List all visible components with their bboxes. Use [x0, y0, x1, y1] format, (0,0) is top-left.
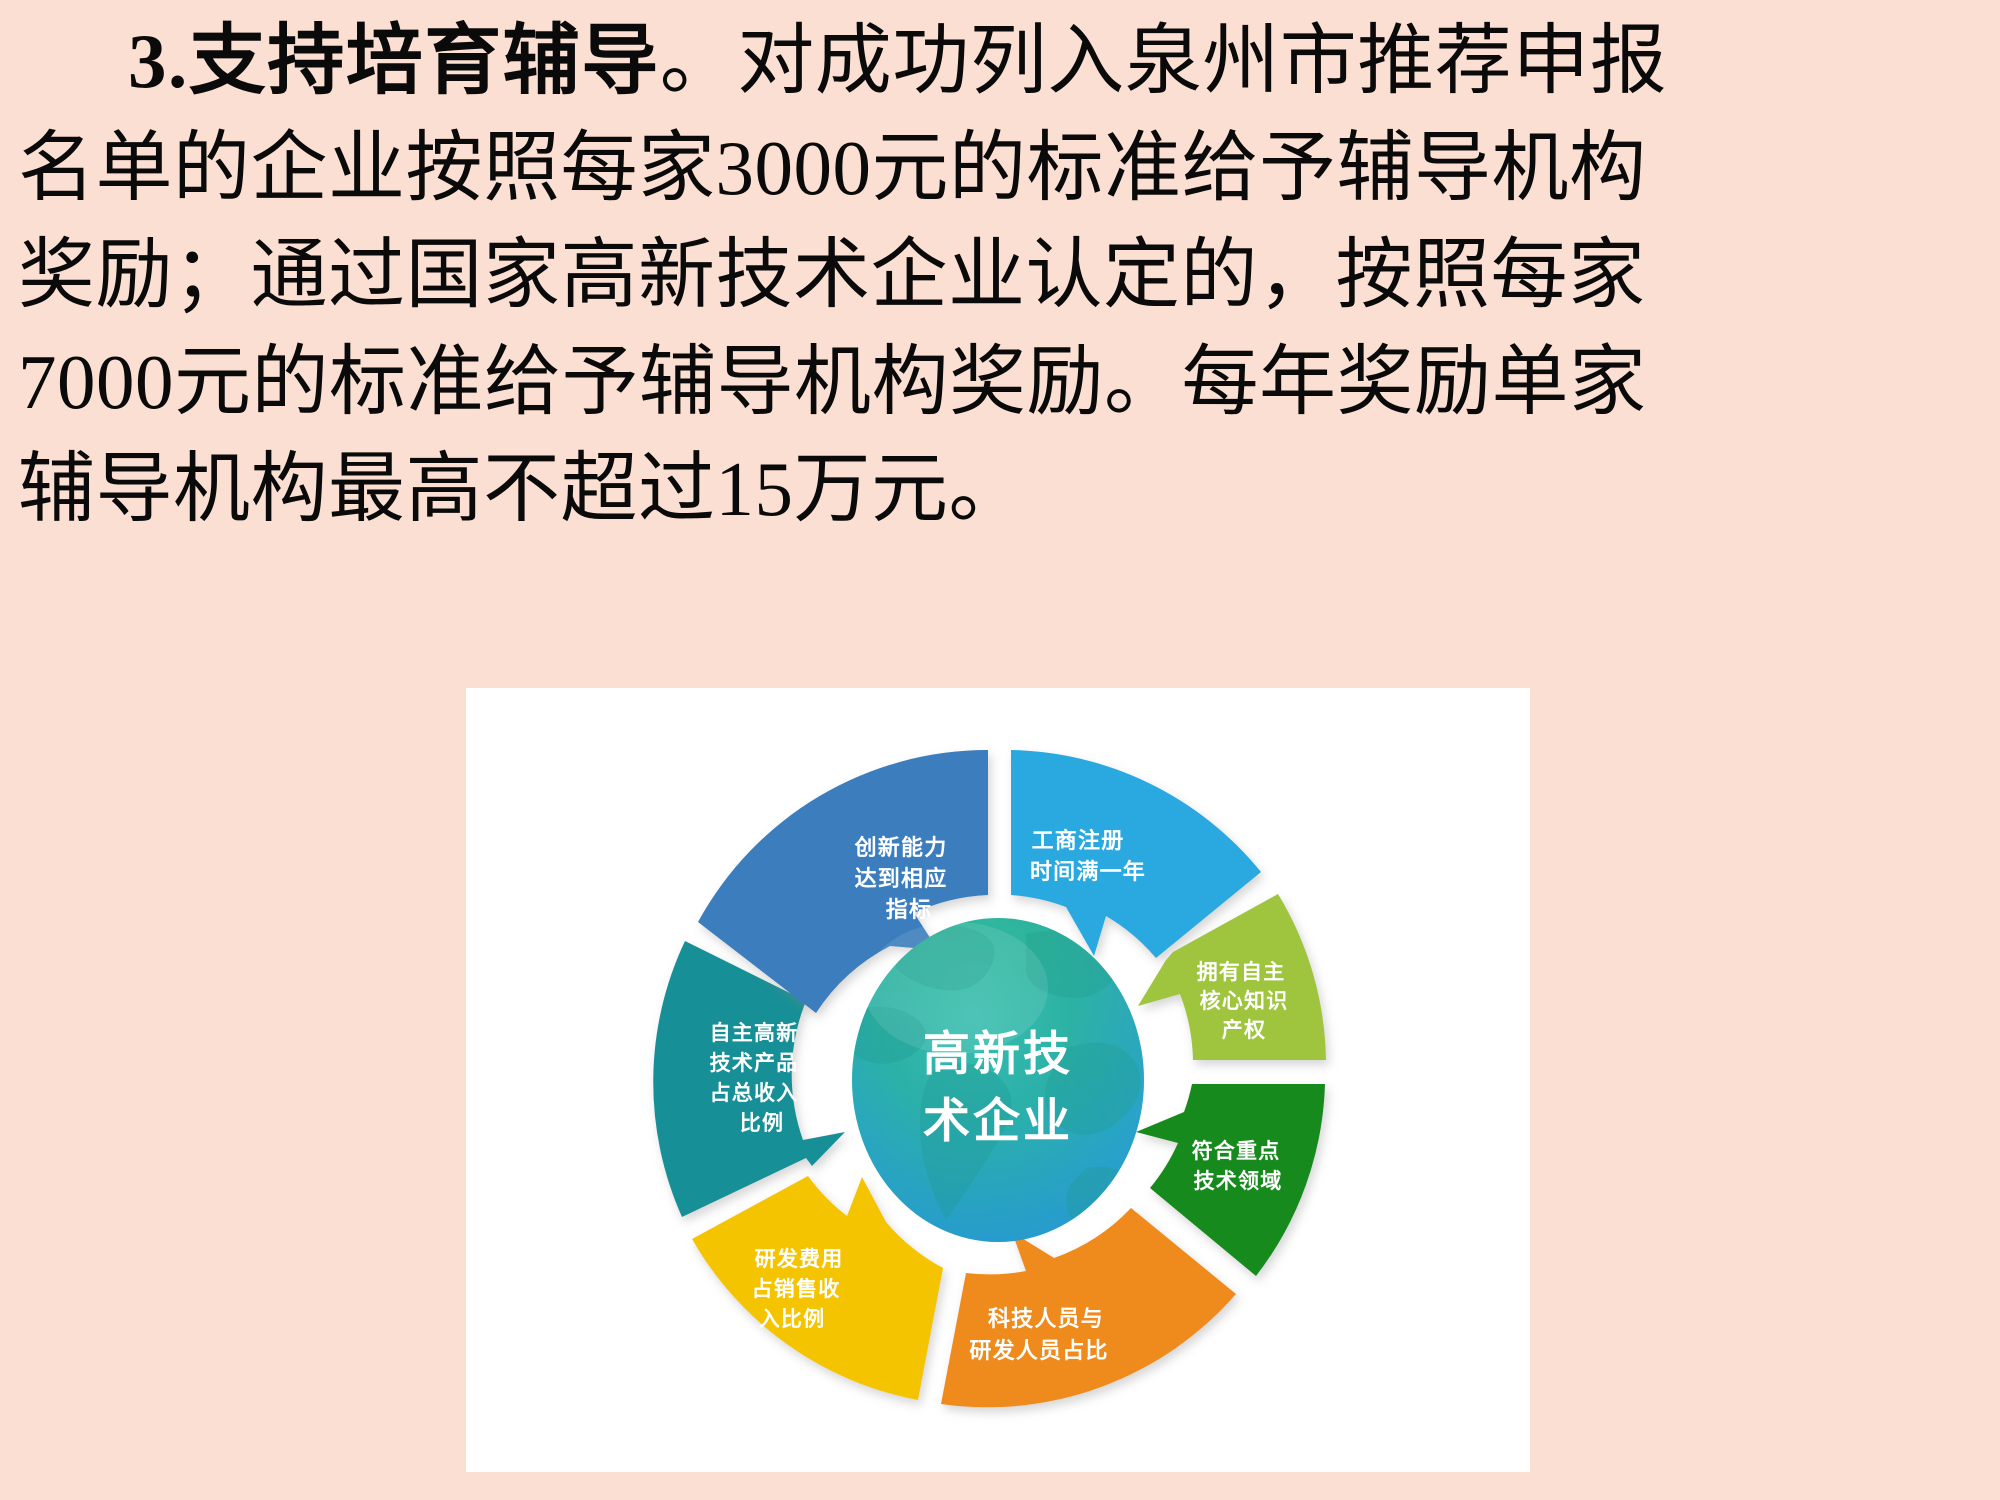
segment-rd-label-1: 研发费用 [755, 1247, 844, 1271]
paragraph-line-4: 7000元的标准给予辅导机构奖励。每年奖励单家 [18, 329, 1982, 436]
paragraph-line-3: 奖励；通过国家高新技术企业认定的，按照每家 [18, 222, 1982, 329]
segment-rd-label-2: 占销售收 [752, 1277, 841, 1301]
diagram-image-card: 工商注册 时间满一年 拥有自主 核心知识 产权 符合重点 技术领域 [466, 688, 1530, 1472]
segment-tech-field-label-1: 符合重点 [1192, 1139, 1281, 1163]
segment-innovation-label-1: 创新能力 [854, 835, 948, 860]
segment-ip-label-1: 拥有自主 [1197, 960, 1286, 984]
segment-innovation-label-2: 达到相应 [855, 866, 948, 891]
paragraph-heading: 3.支持培育辅导 [128, 18, 660, 104]
paragraph-line-2: 名单的企业按照每家3000元的标准给予辅导机构 [18, 115, 1982, 222]
segment-product-label-1: 自主高新 [710, 1021, 799, 1045]
segment-registration-label-2: 时间满一年 [1030, 859, 1146, 884]
slide-canvas: 3.支持培育辅导。对成功列入泉州市推荐申报 名单的企业按照每家3000元的标准给… [0, 0, 2000, 1500]
segment-product-label-2: 技术产品 [710, 1051, 799, 1075]
paragraph-line-5: 辅导机构最高不超过15万元。 [18, 436, 1982, 543]
center-label-line-2: 术企业 [923, 1094, 1073, 1147]
segment-staff-label-2: 研发人员占比 [969, 1338, 1108, 1363]
segment-tech-field-label-2: 技术领域 [1194, 1169, 1283, 1193]
segment-innovation-label-3: 指标 [886, 897, 932, 922]
paragraph-line-1-rest: 。对成功列入泉州市推荐申报 [660, 18, 1668, 104]
segment-staff-label-1: 科技人员与 [988, 1306, 1104, 1331]
segment-ip-label-3: 产权 [1222, 1018, 1266, 1042]
segment-product-label-3: 占总收入 [710, 1081, 799, 1105]
segment-rd-label-3: 入比例 [759, 1307, 826, 1331]
hi-tech-enterprise-wheel-diagram: 工商注册 时间满一年 拥有自主 核心知识 产权 符合重点 技术领域 [466, 688, 1530, 1472]
paragraph-line-1: 3.支持培育辅导。对成功列入泉州市推荐申报 [18, 8, 1982, 115]
segment-product-label-4: 比例 [740, 1111, 784, 1135]
segment-ip-label-2: 核心知识 [1200, 989, 1289, 1013]
slide-text-block: 3.支持培育辅导。对成功列入泉州市推荐申报 名单的企业按照每家3000元的标准给… [18, 8, 1982, 543]
center-label-line-1: 高新技 [923, 1027, 1073, 1080]
segment-registration-label-1: 工商注册 [1032, 828, 1125, 853]
